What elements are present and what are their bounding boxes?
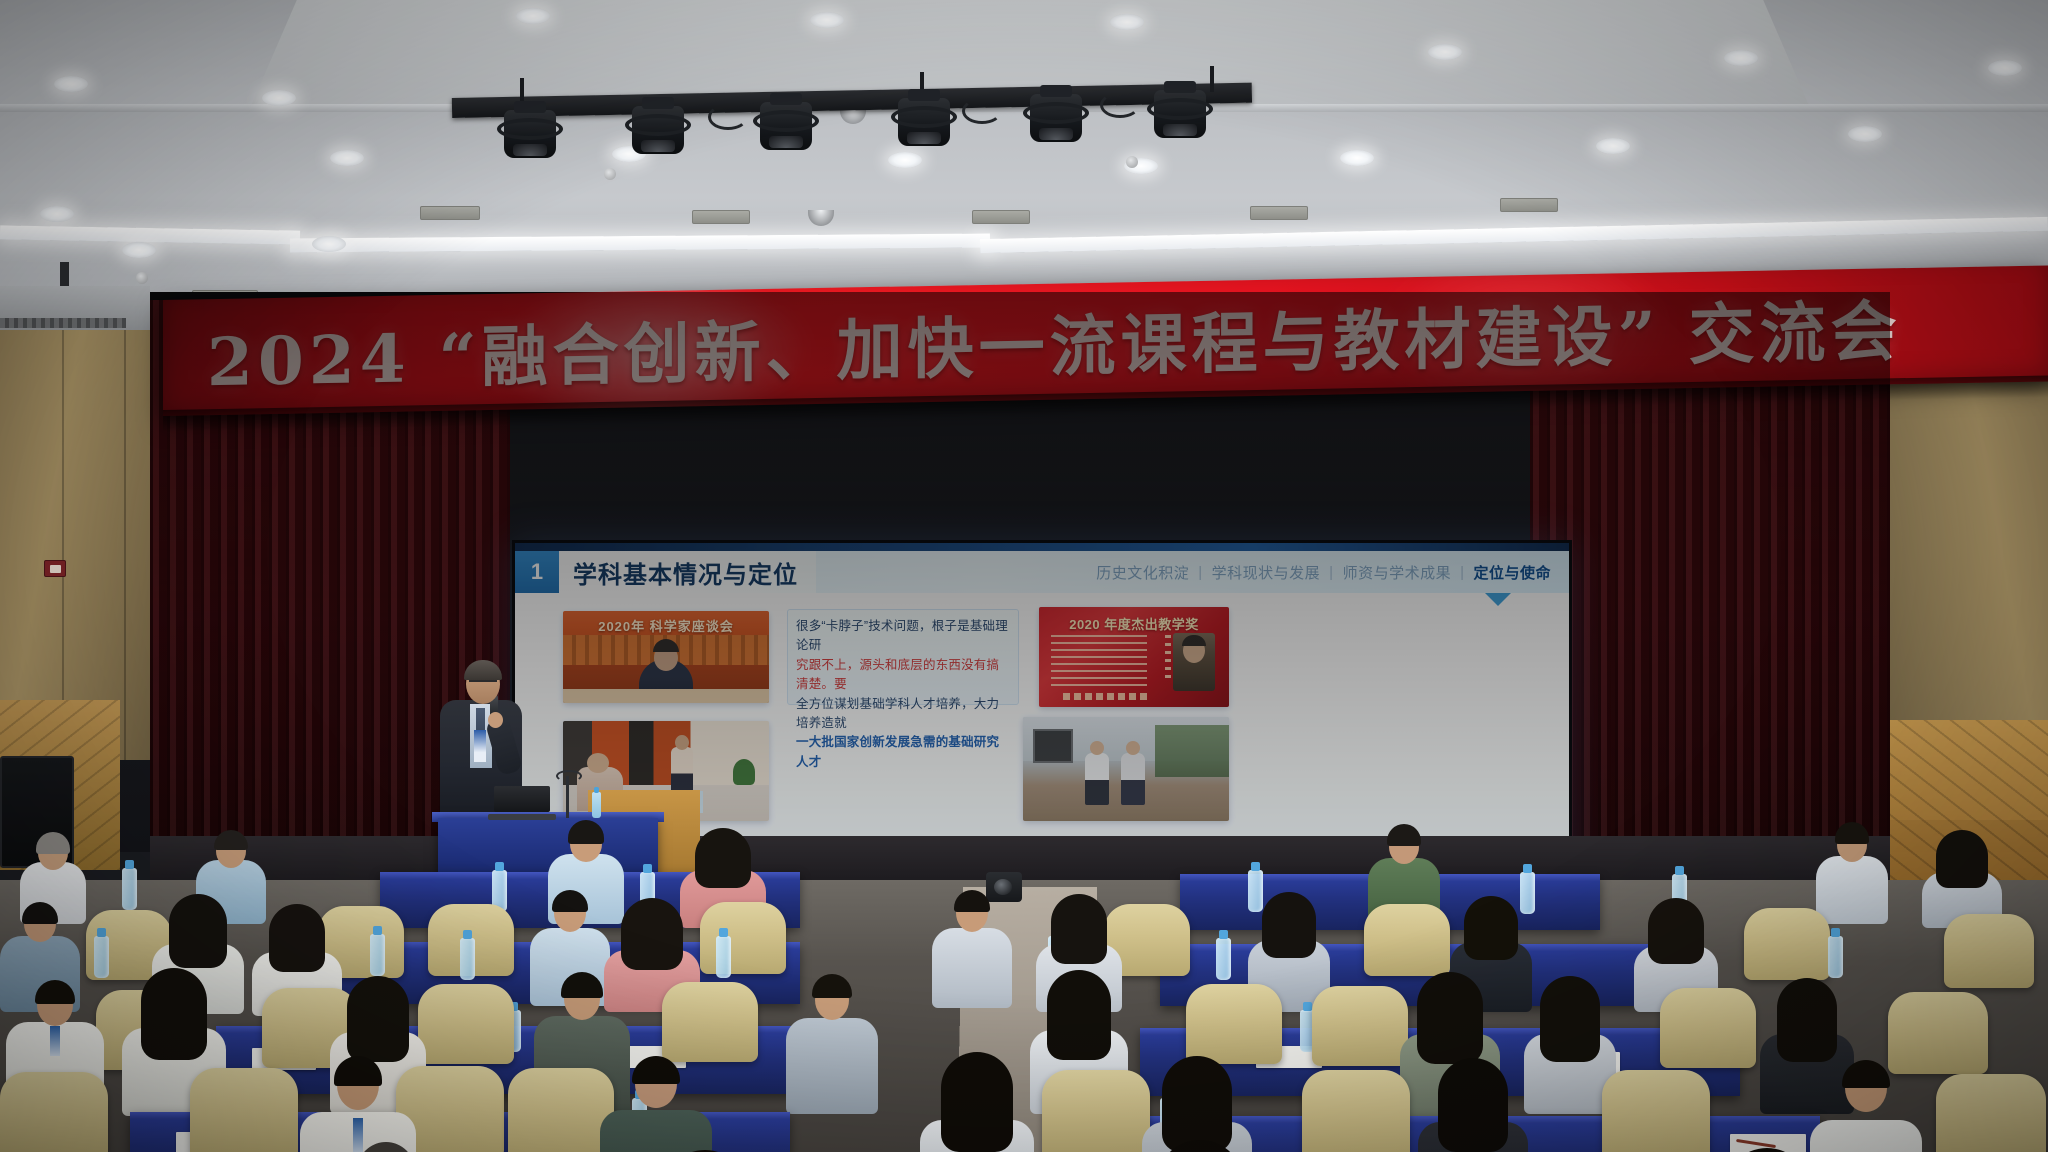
person-hair — [552, 890, 588, 912]
stage-spotlight — [632, 106, 684, 154]
quote-line-2: 全方位谋划基础学科人才培养，大力培养造就 — [796, 695, 1010, 734]
water-bottle — [122, 868, 137, 910]
panel-seam — [62, 330, 64, 760]
slide-photo-fieldwork — [1023, 717, 1229, 821]
ceiling-downlight — [1110, 14, 1144, 30]
slide-nav-item-2[interactable]: 师资与学术成果 — [1343, 562, 1452, 583]
audience-chair — [1602, 1070, 1710, 1152]
slide-section-number: 1 — [515, 551, 559, 593]
ceiling-downlight — [1428, 44, 1462, 60]
person-hair — [1648, 898, 1704, 964]
nav-separator-icon: | — [1460, 564, 1464, 581]
person-hair — [169, 894, 227, 968]
person-hair — [35, 980, 75, 1004]
ceiling-vent — [972, 210, 1030, 224]
person-hair — [1835, 822, 1869, 844]
person-hair — [1724, 1148, 1810, 1152]
person-hair — [22, 902, 58, 924]
ceiling-downlight — [40, 206, 74, 222]
quote-line-0: 很多“卡脖子”技术问题，根子是基础理论研 — [796, 617, 1010, 656]
ceiling-vent — [420, 206, 480, 220]
spotlight-lens — [1039, 128, 1073, 140]
audience-member — [1922, 828, 2002, 926]
ceiling-vent — [1500, 198, 1558, 212]
person-hair — [141, 968, 207, 1060]
audience-member — [1810, 1060, 1922, 1152]
light-cable — [708, 104, 748, 130]
ceiling-vent — [1250, 206, 1308, 220]
audience-chair — [1944, 914, 2034, 988]
person-hair — [621, 898, 683, 970]
audience-chair — [0, 1072, 108, 1152]
person-hair — [632, 1056, 680, 1084]
slide-photo-scientists-meeting: 2020年 科学家座谈会 — [563, 611, 769, 703]
water-bottle — [592, 792, 601, 818]
audience-chair — [418, 984, 514, 1064]
audience-chair — [700, 902, 786, 974]
light-cable — [962, 98, 1002, 124]
audience-member — [1418, 1058, 1528, 1152]
ceiling-downlight — [516, 8, 550, 24]
sprinkler-head — [1126, 156, 1138, 168]
slide-photo-teaching-award: 2020 年度杰出教学奖 — [1039, 607, 1229, 707]
audience-member — [1816, 822, 1888, 924]
water-bottle — [1216, 938, 1231, 980]
person-hair — [954, 890, 990, 912]
person-hair — [36, 832, 70, 854]
slide-quote-box: 很多“卡脖子”技术问题，根子是基础理论研 究跟不上，源头和底层的东西没有搞清楚。… — [787, 609, 1019, 705]
water-bottle — [1828, 936, 1843, 978]
person-hair — [1777, 978, 1837, 1062]
person-hair — [1464, 896, 1518, 960]
ceiling-downlight — [888, 152, 922, 168]
speaker-lanyard — [474, 730, 486, 762]
person-hair — [269, 904, 325, 972]
water-bottle — [460, 938, 475, 980]
audience-chair — [1936, 1074, 2046, 1152]
microphone-stand — [566, 776, 569, 818]
person-hair — [1417, 972, 1483, 1064]
photo-desk — [563, 689, 769, 703]
audience-member — [300, 1056, 416, 1152]
person-hair — [214, 830, 248, 850]
slide-nav-item-1[interactable]: 学科现状与发展 — [1212, 562, 1321, 583]
ceiling-downlight — [1340, 150, 1374, 166]
water-bottle — [370, 934, 385, 976]
laptop-lid — [494, 786, 550, 812]
emergency-light-icon — [44, 560, 66, 577]
panel-seam — [124, 330, 126, 760]
ceiling-downlight — [1848, 126, 1882, 142]
ceiling-downlight — [312, 236, 346, 252]
spotlight-lens — [513, 144, 547, 156]
badge-lanyard — [50, 1026, 60, 1056]
truss-hanger — [1210, 66, 1214, 92]
person-hair — [695, 828, 751, 888]
person-hair — [812, 974, 852, 998]
person-torso — [932, 928, 1012, 1008]
slide-section-title: 学科基本情况与定位 — [559, 551, 816, 593]
audience-member — [920, 1052, 1034, 1152]
ceiling-downlight — [262, 90, 296, 106]
audience-member — [786, 974, 878, 1112]
person-hair — [1262, 892, 1316, 958]
person-hair — [334, 1056, 382, 1086]
award-signature — [1063, 693, 1147, 700]
audience-member — [1700, 1148, 1834, 1152]
audience-chair — [190, 1068, 298, 1152]
ceiling — [0, 0, 2048, 300]
person-torso — [786, 1018, 878, 1114]
photo-person — [1085, 753, 1109, 805]
person-hair — [347, 976, 409, 1062]
person-hair — [1162, 1056, 1232, 1152]
light-cable — [1100, 92, 1140, 118]
person-hair — [941, 1052, 1013, 1152]
speaker-hand — [488, 712, 503, 728]
ceiling-downlight — [122, 242, 156, 258]
audience-chair — [1312, 986, 1408, 1066]
quote-line-3: 一大批国家创新发展急需的基础研究人才 — [796, 733, 1010, 772]
ceiling-downlight — [1596, 138, 1630, 154]
audience-member — [932, 890, 1012, 1008]
stage-spotlight — [760, 102, 812, 150]
audience-chair — [1186, 984, 1282, 1064]
quote-line-1: 究跟不上，源头和底层的东西没有搞清楚。要 — [796, 656, 1010, 695]
spotlight-lens — [641, 140, 675, 152]
person-hair — [561, 972, 603, 998]
spotlight-lens — [1163, 124, 1197, 136]
audience-member — [600, 1056, 712, 1152]
air-conditioner-grille — [0, 318, 126, 328]
spotlight-lens — [907, 132, 941, 144]
slide-photo-meeting-caption: 2020年 科学家座谈会 — [563, 616, 769, 635]
person-hair — [357, 1142, 415, 1152]
slide-top-bar — [515, 543, 1569, 551]
glasses-icon — [469, 680, 497, 687]
slide-photo-award-caption: 2020 年度杰出教学奖 — [1039, 614, 1229, 633]
person-hair — [1387, 824, 1421, 846]
spotlight-lens — [769, 136, 803, 148]
photo-board — [1033, 729, 1073, 763]
person-hair — [1842, 1060, 1890, 1088]
person-hair — [1047, 970, 1111, 1060]
nav-separator-icon: | — [1198, 564, 1202, 581]
ceiling-downlight — [810, 12, 844, 28]
ceiling-downlight — [1724, 50, 1758, 66]
ceiling-downlight — [54, 76, 88, 92]
slide-nav: 历史文化积淀 | 学科现状与发展 | 师资与学术成果 | 定位与使命 — [1096, 562, 1569, 583]
audience-member — [1142, 1056, 1252, 1152]
sprinkler-head — [136, 272, 148, 284]
ceiling-downlight — [1988, 60, 2022, 76]
audience-chair — [1364, 904, 1450, 976]
audience-member — [1132, 1140, 1268, 1152]
person-hair — [1438, 1058, 1508, 1152]
stage-spotlight — [1030, 94, 1082, 142]
audience-area — [0, 880, 2048, 1152]
stage-spotlight — [1154, 90, 1206, 138]
audience-chair — [662, 982, 758, 1062]
audience-chair — [1302, 1070, 1410, 1152]
award-portrait — [1173, 633, 1215, 691]
audience-chair — [508, 1068, 614, 1152]
person-torso — [600, 1110, 712, 1152]
award-vertical-text — [1165, 635, 1171, 679]
photo-greenery — [1155, 725, 1229, 777]
photo-person — [1121, 753, 1145, 805]
person-hair — [1540, 976, 1600, 1062]
sprinkler-head — [604, 168, 616, 180]
laptop-base — [488, 814, 556, 820]
person-hair — [1936, 830, 1988, 888]
water-bottle — [716, 936, 731, 978]
stage-spotlight — [504, 110, 556, 158]
slide-nav-item-3-active[interactable]: 定位与使命 — [1473, 562, 1551, 583]
audience-chair — [1744, 908, 1830, 980]
award-citation-text — [1051, 635, 1147, 687]
person-torso — [1816, 856, 1888, 924]
slide-header: 1 学科基本情况与定位 历史文化积淀 | 学科现状与发展 | 师资与学术成果 |… — [515, 551, 1569, 593]
audience-chair — [1660, 988, 1756, 1068]
ceiling-vent — [692, 210, 750, 224]
person-hair — [1156, 1140, 1244, 1152]
stage-spotlight — [898, 98, 950, 146]
water-bottle — [94, 936, 109, 978]
conference-hall-photo: 2024 “融合创新、加快一流课程与教材建设” 交流会 1 学科基本情况与定位 … — [0, 0, 2048, 1152]
ceiling-downlight — [330, 150, 364, 166]
person-hair — [568, 820, 604, 844]
audience-member — [316, 1142, 456, 1152]
presenter-laptop — [488, 786, 556, 816]
slide-nav-item-0[interactable]: 历史文化积淀 — [1096, 562, 1189, 583]
plant-icon — [733, 759, 755, 785]
person-hair — [1051, 894, 1107, 964]
nav-separator-icon: | — [1329, 564, 1333, 581]
